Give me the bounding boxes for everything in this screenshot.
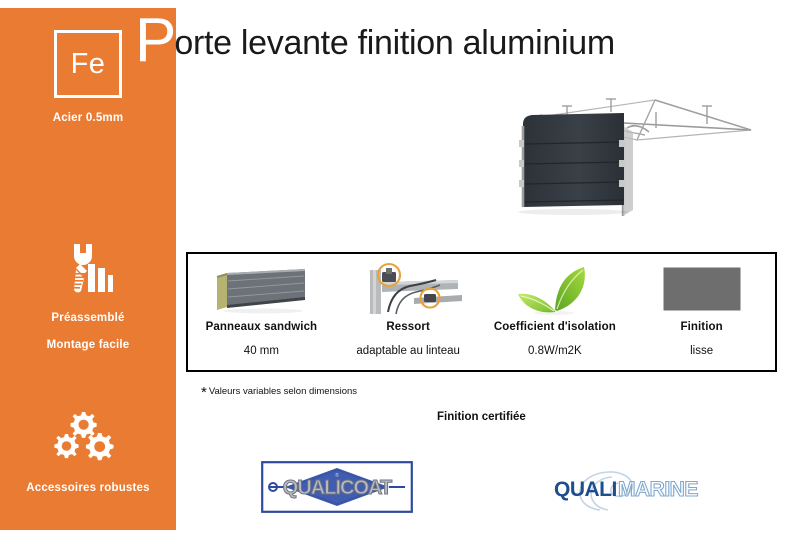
- feature-finition: Finition lisse: [628, 254, 775, 370]
- sectional-garage-door-photo: [505, 88, 770, 223]
- sidebar-item-label-accessoires: Accessoires robustes: [0, 480, 176, 497]
- feature-title: Ressort: [386, 321, 430, 333]
- spring-mechanism-icon: [352, 260, 464, 318]
- feature-title: Panneaux sandwich: [206, 321, 318, 333]
- sidebar-item-label-preassemble-2: Montage facile: [0, 337, 176, 354]
- feature-coefficient-isolation: Coefficient d'isolation 0.8W/m2K: [482, 254, 629, 370]
- feature-ressort: Ressort adaptable au linteau: [335, 254, 482, 370]
- qualimarine-logo: QUALI MARINE: [548, 466, 720, 512]
- page-title: Porte levante finition aluminium: [135, 24, 615, 63]
- svg-text:®: ®: [335, 472, 339, 479]
- feature-value: adaptable au linteau: [356, 345, 460, 357]
- sidebar-item-preassemble: Préassemblé Montage facile: [0, 238, 176, 354]
- sidebar: Fe Acier 0.5mm: [0, 8, 176, 530]
- footnote-asterisk: *: [201, 384, 207, 401]
- sidebar-item-accessoires: Accessoires robustes: [0, 408, 176, 497]
- feature-panneaux-sandwich: Panneaux sandwich 40 mm: [188, 254, 335, 370]
- green-leaves-icon: [512, 260, 598, 318]
- qualicoat-logo: QUALICOAT ®: [261, 461, 413, 513]
- smooth-finish-swatch-icon: [656, 260, 748, 318]
- svg-text:QUALICOAT: QUALICOAT: [283, 477, 392, 499]
- page-title-initial: P: [135, 6, 174, 75]
- footnote-text: Valeurs variables selon dimensions: [209, 386, 357, 397]
- wrench-tools-icon: [0, 238, 176, 298]
- certification-heading: Finition certifiée: [437, 411, 526, 423]
- brochure-page: Fe Acier 0.5mm: [0, 0, 800, 534]
- feature-title: Finition: [680, 321, 722, 333]
- feature-title: Coefficient d'isolation: [494, 321, 616, 333]
- sidebar-item-label-preassemble-1: Préassemblé: [0, 310, 176, 327]
- page-title-rest: orte levante finition aluminium: [174, 24, 615, 62]
- sidebar-item-label-acier: Acier 0.5mm: [0, 110, 176, 127]
- feature-value: lisse: [690, 345, 713, 357]
- feature-value: 40 mm: [244, 345, 279, 357]
- fe-symbol-label: Fe: [71, 48, 106, 81]
- gears-icon: [0, 408, 176, 468]
- svg-text:QUALI: QUALI: [554, 478, 617, 501]
- fe-element-box-icon: Fe: [54, 30, 122, 98]
- features-box: Panneaux sandwich 40 mm: [186, 252, 777, 372]
- footnote: *Valeurs variables selon dimensions: [203, 381, 357, 398]
- sandwich-panel-icon: [207, 260, 315, 318]
- svg-text:MARINE: MARINE: [618, 478, 698, 501]
- feature-value: 0.8W/m2K: [528, 345, 582, 357]
